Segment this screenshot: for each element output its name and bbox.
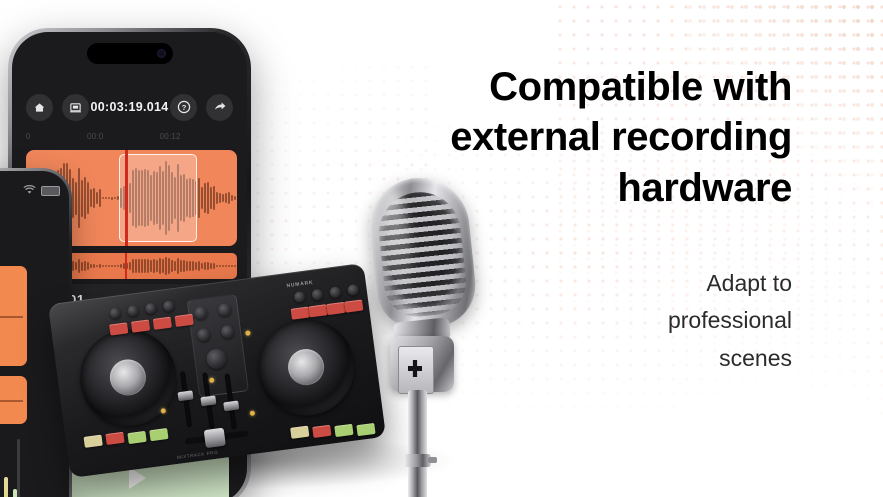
level-meter (4, 477, 8, 497)
clip-waveline (0, 316, 23, 318)
clip-waveline (0, 400, 23, 402)
ruler-tick: 00:12 (160, 132, 181, 145)
waveform-bar (78, 168, 80, 228)
ruler-tick: 00:0 (87, 132, 103, 145)
fader-cap[interactable] (223, 401, 239, 412)
waveform-bar (102, 197, 104, 199)
waveform-bar (225, 193, 227, 203)
waveform-bar (210, 187, 212, 208)
waveform-bar (72, 178, 74, 217)
waveform-bar (108, 197, 110, 199)
mic-stand-screw (428, 457, 437, 463)
ruler-tick: 0 (26, 132, 31, 145)
waveform-bar (228, 192, 230, 203)
waveform-bar (96, 265, 98, 268)
audio-clip[interactable] (0, 376, 27, 424)
waveform-bar (189, 261, 191, 271)
svg-text:?: ? (181, 103, 186, 112)
cue-pad[interactable] (344, 299, 363, 312)
waveform-bar (99, 264, 101, 268)
waveform-bar (165, 257, 167, 275)
copy-block: Compatible with external recording hardw… (390, 62, 792, 377)
cue-pad[interactable] (326, 302, 345, 315)
waveform-bar (198, 178, 200, 218)
waveform-bar (168, 258, 170, 274)
waveform-bar (78, 259, 80, 274)
transport-pad[interactable] (149, 428, 168, 441)
level-meter (13, 489, 17, 497)
page-title: Compatible with external recording hardw… (390, 62, 792, 213)
waveform-bar (228, 265, 230, 268)
fx-knob[interactable] (293, 291, 305, 303)
fader-track[interactable] (17, 439, 20, 497)
waveform-bar (129, 262, 131, 269)
waveform-bar (177, 258, 179, 275)
page-subtitle: Adapt to professional scenes (390, 213, 792, 377)
waveform-bar (216, 265, 218, 268)
jog-wheel-right[interactable] (252, 313, 360, 421)
toolbar-right-group: ? (170, 94, 233, 121)
toolbar-left-group (26, 94, 89, 121)
cue-pad[interactable] (131, 319, 150, 332)
waveform-bar (219, 265, 221, 268)
waveform-bar (105, 265, 107, 267)
promo-slide: Compatible with external recording hardw… (0, 0, 883, 497)
share-icon[interactable] (206, 94, 233, 121)
waveform-bar (162, 259, 164, 272)
waveform-bar (87, 182, 89, 214)
waveform-bar (99, 189, 101, 207)
waveform-bar (81, 180, 83, 217)
transport-pad[interactable] (84, 435, 103, 448)
jog-wheel-left[interactable] (74, 324, 182, 432)
waveform-bar (114, 265, 116, 267)
fx-knob[interactable] (109, 307, 121, 319)
transport-pad[interactable] (105, 432, 124, 445)
fader-cap[interactable] (178, 390, 194, 401)
crossfader-cap[interactable] (204, 428, 226, 448)
status-led (161, 408, 167, 414)
playhead[interactable] (125, 150, 128, 246)
battery-icon (41, 186, 60, 196)
waveform-bar (120, 264, 122, 269)
waveform-bar (87, 262, 89, 270)
status-led (245, 330, 251, 336)
waveform-bar (117, 265, 119, 267)
waveform-bar (234, 265, 236, 267)
fx-knob[interactable] (145, 302, 157, 314)
transport-pad[interactable] (127, 431, 146, 444)
waveform-bar (231, 265, 233, 267)
status-bar (23, 182, 60, 200)
recording-timer: 00:03:19.014 (91, 100, 169, 114)
cue-pad[interactable] (308, 304, 327, 317)
front-camera-icon (157, 49, 166, 58)
waveform-bar (135, 259, 137, 274)
waveform-bar (72, 261, 74, 271)
waveform-bar (111, 197, 113, 200)
waveform-bar (156, 260, 158, 273)
dj-model-label: MIXTRACK PRO (177, 450, 219, 460)
waveform-bar (84, 261, 86, 271)
waveform-bar (141, 259, 143, 273)
waveform-bar (183, 260, 185, 272)
waveform-bar (150, 260, 152, 271)
waveform-bar (192, 261, 194, 270)
waveform-bar (81, 262, 83, 271)
waveform-bar (186, 261, 188, 270)
mic-stand-pole (408, 390, 427, 497)
cue-pad[interactable] (291, 307, 310, 320)
waveform-bar (234, 196, 236, 200)
waveform-bar (195, 262, 197, 270)
waveform-bar (114, 197, 116, 199)
waveform-bar (171, 260, 173, 273)
waveform-bar (153, 259, 155, 272)
waveform-bar (93, 188, 95, 207)
waveform-bar (201, 187, 203, 209)
wifi-icon (23, 182, 36, 200)
waveform-bar (225, 265, 227, 268)
waveform-bar (222, 265, 224, 267)
waveform-bar (75, 262, 77, 270)
play-icon[interactable] (129, 467, 146, 489)
fx-knob[interactable] (163, 300, 175, 312)
cue-pad[interactable] (175, 314, 194, 327)
fader-cap[interactable] (200, 395, 216, 406)
waveform-bar (102, 265, 104, 267)
playhead-overview[interactable] (125, 253, 127, 279)
waveform-bar (213, 263, 215, 269)
waveform-bar (93, 264, 95, 269)
waveform-bar (231, 195, 233, 201)
export-icon[interactable] (62, 94, 89, 121)
waveform-bar (96, 192, 98, 204)
dj-brand-label: NUMARK (286, 280, 314, 289)
waveform-bar (201, 263, 203, 269)
waveform-bar (213, 186, 215, 211)
waveform-bar (108, 265, 110, 267)
waveform-bar (111, 265, 113, 267)
timeline-ruler[interactable]: 0 00:0 00:12 (26, 132, 237, 145)
waveform-bar (144, 259, 146, 273)
waveform-bar (84, 177, 86, 219)
waveform-bar (75, 182, 77, 215)
app-toolbar: 00:03:19.014 ? (12, 88, 247, 126)
cue-pad[interactable] (109, 322, 128, 335)
waveform-bar (147, 259, 149, 273)
waveform-bar (132, 259, 134, 273)
waveform-bar (216, 192, 218, 203)
waveform-bar (174, 261, 176, 271)
fx-knob[interactable] (311, 289, 323, 301)
waveform-bar (105, 197, 107, 200)
transport-pad[interactable] (312, 425, 331, 438)
mic-stand-collar (404, 454, 431, 467)
waveform-bar (90, 189, 92, 207)
transport-pad[interactable] (334, 424, 353, 437)
audio-clip[interactable] (0, 266, 27, 366)
fx-knob[interactable] (347, 284, 359, 296)
waveform-bar (210, 263, 212, 268)
transport-pad[interactable] (290, 426, 309, 439)
waveform-bar (159, 258, 161, 274)
waveform-bar (207, 262, 209, 270)
home-icon[interactable] (26, 94, 53, 121)
waveform-bar (90, 264, 92, 268)
waveform-bar (138, 259, 140, 273)
waveform-bar (180, 260, 182, 271)
waveform-bar (204, 262, 206, 269)
waveform-bar (207, 182, 209, 214)
fx-knob[interactable] (329, 286, 341, 298)
fx-knob[interactable] (127, 305, 139, 317)
waveform-bar (204, 183, 206, 213)
status-led (250, 410, 256, 416)
waveform-bar (222, 194, 224, 202)
cue-pad[interactable] (153, 317, 172, 330)
waveform-bar (219, 193, 221, 204)
waveform-bar (198, 261, 200, 271)
selection-region[interactable] (119, 154, 197, 242)
help-icon[interactable]: ? (170, 94, 197, 121)
